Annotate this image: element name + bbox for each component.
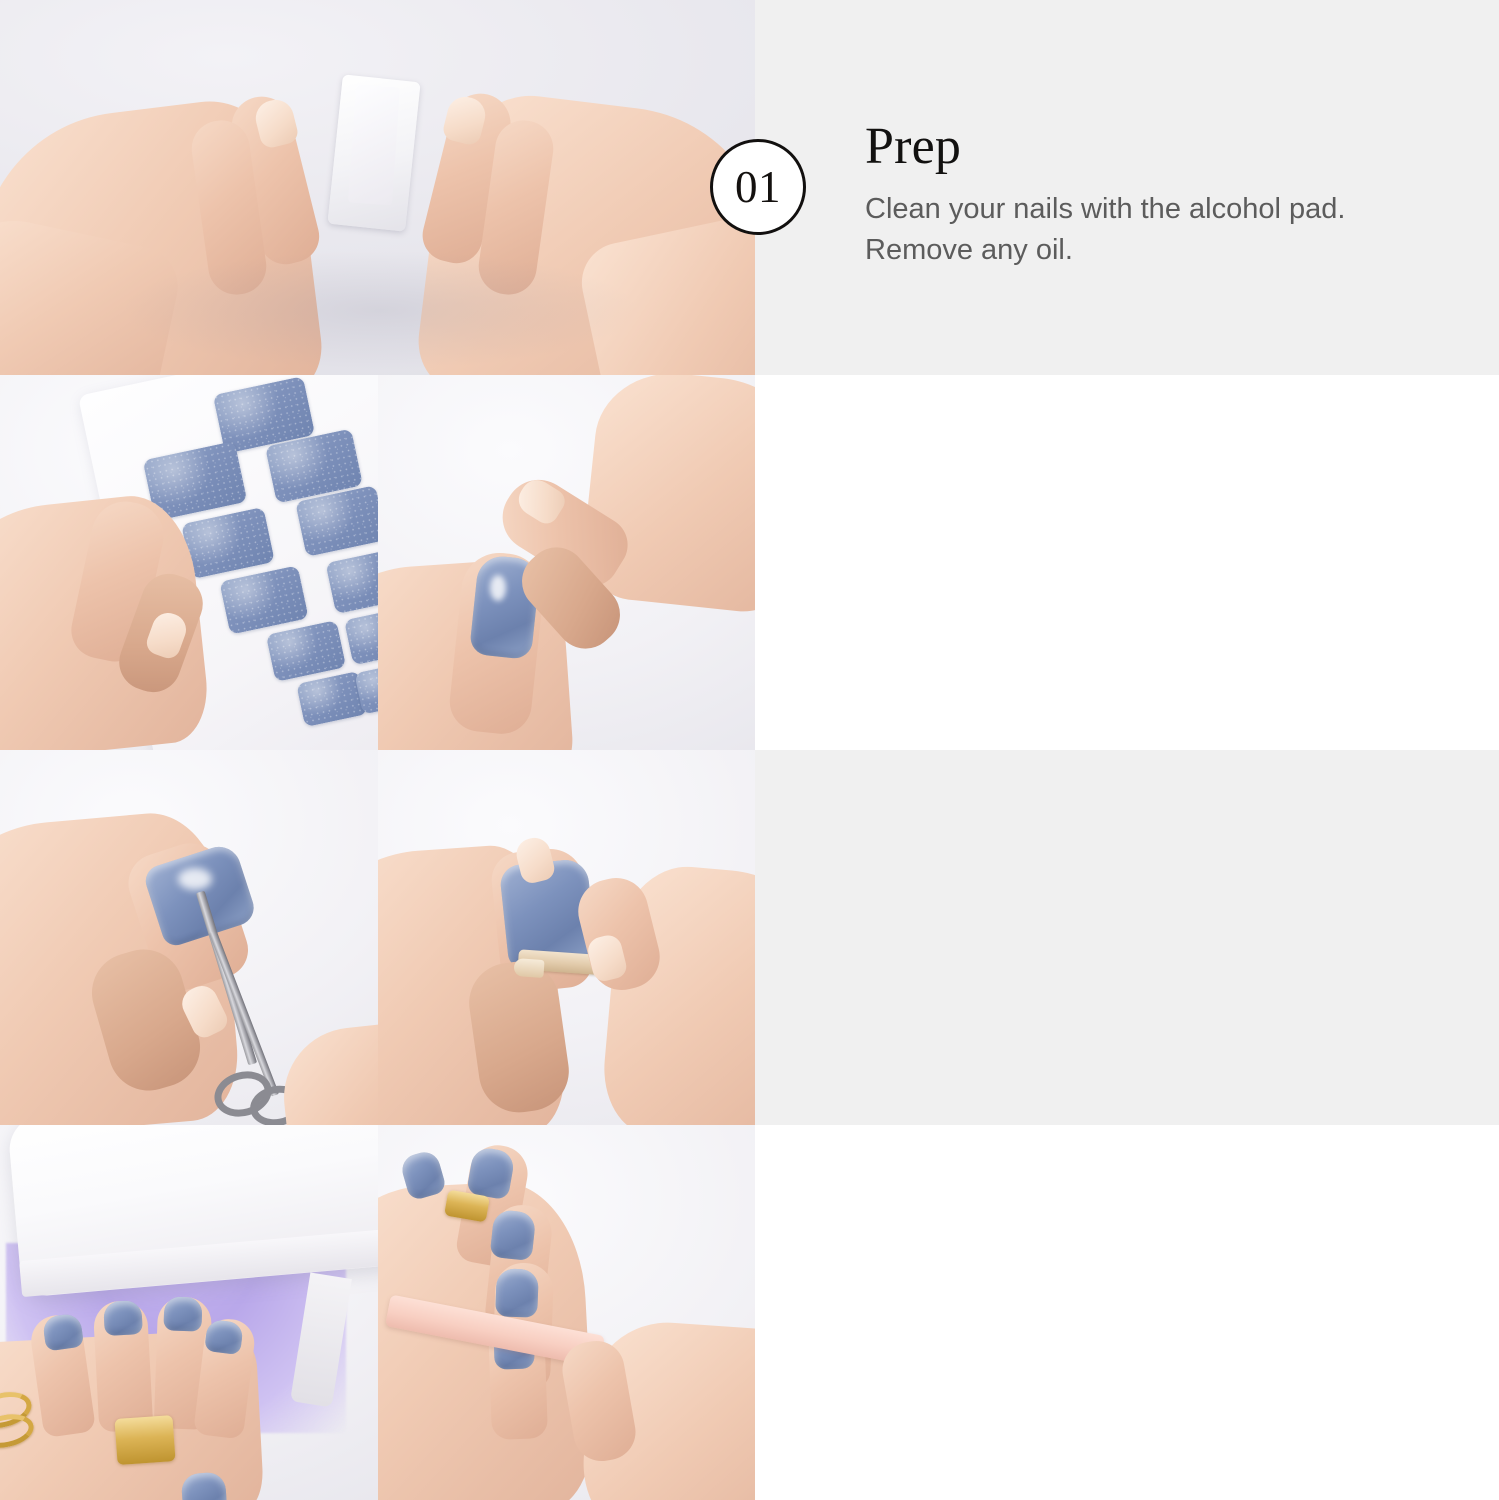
alcohol-pad-fold (348, 85, 400, 206)
step-description-01: Clean your nails with the alcohol pad. R… (865, 189, 1465, 271)
photo-filing-nail-edges-with-pink-file (378, 1125, 756, 1500)
step-row-01: 01 Prep Clean your nails with the alcoho… (0, 0, 1499, 375)
photo-column-01 (0, 0, 755, 375)
photo-column-03 (0, 750, 755, 1125)
finished-nail (489, 1209, 536, 1261)
step-badge-01: 01 (710, 139, 806, 235)
photo-wooden-stick-pressing-strip-edge (378, 750, 756, 1125)
photo-hand-holding-sheet-of-blue-nail-strips (0, 375, 378, 750)
desc-line: Remove any oil. (865, 230, 1465, 271)
step-row-03: 03 Trim & Press Firmly press the edges o… (0, 750, 1499, 1125)
step-title-01: Prep (865, 120, 1465, 175)
nail-sparkle (178, 868, 212, 890)
nail-sparkle (490, 575, 506, 601)
step-row-04: 04 Cure & Smooth Cure the strips under U… (0, 1125, 1499, 1500)
photo-column-02 (0, 375, 755, 750)
photo-column-04 (0, 1125, 755, 1500)
nail-strip-instruction-infographic: 01 Prep Clean your nails with the alcoho… (0, 0, 1499, 1500)
cured-nail (103, 1300, 143, 1336)
photo-two-hands-holding-alcohol-pad (0, 0, 755, 375)
step-row-02: 02 Select & Apply Select the strip sligh… (0, 375, 1499, 750)
photo-hand-under-white-uv-nail-lamp (0, 1125, 378, 1500)
gold-ring-wide (114, 1415, 175, 1465)
photo-scissors-trimming-excess-strip (0, 750, 378, 1125)
wooden-stick-tip (513, 958, 544, 978)
desc-line: Clean your nails with the alcohol pad. (865, 189, 1465, 230)
photo-applying-blue-strip-to-thumbnail (378, 375, 756, 750)
step-number-01: 01 (735, 165, 781, 210)
cured-nail (163, 1296, 202, 1331)
photo-shadow (120, 250, 640, 370)
finished-nail (495, 1268, 539, 1317)
step-text-01: Prep Clean your nails with the alcohol p… (865, 120, 1465, 271)
